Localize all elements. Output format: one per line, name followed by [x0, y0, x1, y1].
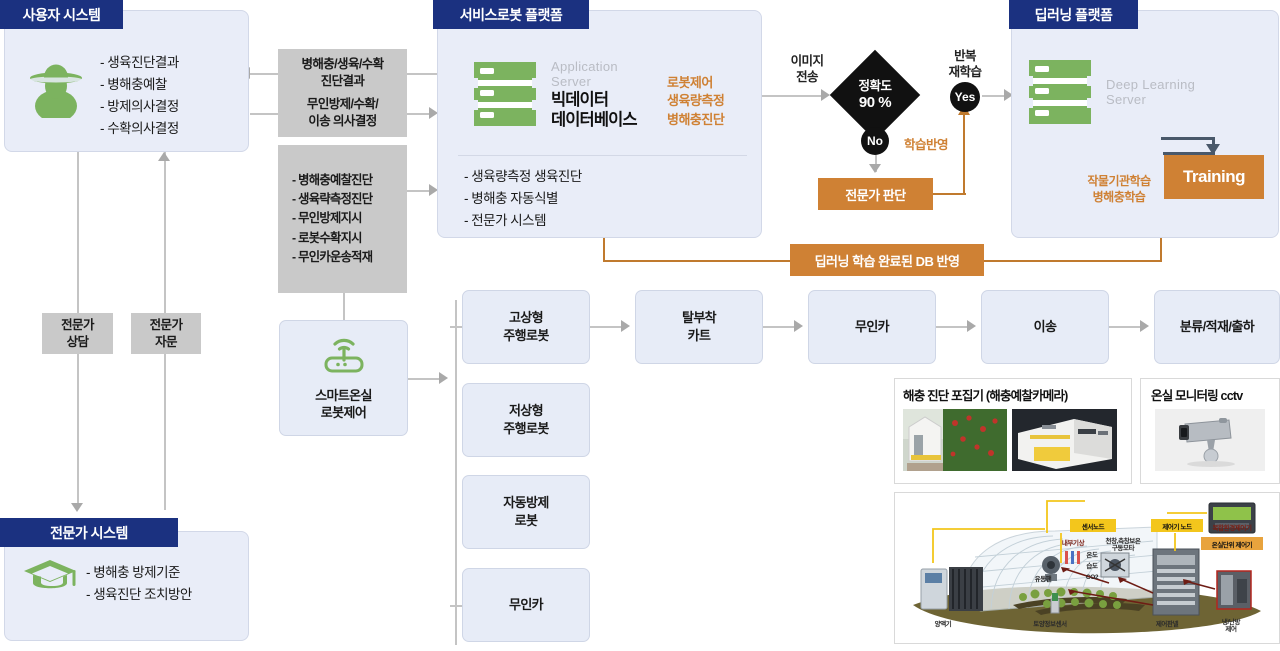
- robot-node-1[interactable]: 저상형 주행로봇: [462, 383, 590, 457]
- robot-node-0[interactable]: 고상형 주행로봇: [462, 290, 590, 364]
- expert-system-bullets: - 병해충 방제기준 - 생육진단 조치방안: [86, 562, 256, 606]
- greenhouse-label-soil-sensor: 토양정보센서: [1019, 621, 1081, 628]
- graduation-cap-icon: [22, 558, 78, 600]
- service-robot-features: 로봇제어 생육량측정 병해충진단: [667, 74, 777, 129]
- greenhouse-label-ceiling-motor: 천창,측창보온 구동모타: [1095, 538, 1151, 553]
- robot-node-3[interactable]: 무인카: [462, 568, 590, 642]
- graybox-expert-consult: 전문가 상담: [42, 313, 113, 354]
- user-system-bullets: - 생육진단결과 - 병해충예찰 - 방제의사결정 - 수확의사결정: [100, 52, 250, 139]
- greenhouse-label-control-panel: 제어판넬: [1145, 621, 1189, 628]
- greenhouse-tag-sensor-node: 센서노드: [1070, 519, 1116, 532]
- arrow-no-to-expert: [869, 164, 881, 173]
- greenhouse-label-internal-weather: 내부기상: [1052, 540, 1094, 547]
- connector-db-bar-left: [603, 260, 793, 262]
- panel-title-user-system: 사용자 시스템: [0, 0, 123, 29]
- greenhouse-tag-unit-controller: 온실단위 제어기: [1201, 537, 1263, 550]
- application-server-label: Application Server: [551, 60, 671, 90]
- connector-spine-to-robot4: [450, 605, 462, 607]
- connector-car-to-transfer: [936, 326, 968, 328]
- graybox-expert-advice: 전문가 자문: [131, 313, 201, 354]
- yes-badge: Yes: [950, 82, 980, 112]
- dl-server-right-h: [1161, 137, 1215, 140]
- connector-db-bar-right: [982, 260, 1162, 262]
- connector-user-to-decision: [250, 113, 280, 115]
- arrow-to-expert-system: [71, 503, 83, 512]
- connector-expert-system-up: [164, 350, 166, 510]
- security-camera-photo: [1155, 409, 1265, 471]
- accuracy-diamond: 정확도 90 %: [843, 63, 907, 127]
- smart-greenhouse-robot-control[interactable]: 스마트온실 로봇제어: [279, 320, 408, 436]
- arrow-platform-to-diamond: [821, 89, 830, 101]
- photo-card-cctv-caption: 온실 모니터링 cctv: [1151, 385, 1279, 404]
- image-transfer-label: 이미지 전송: [778, 53, 836, 86]
- greenhouse-label-nutrient: 양액기: [925, 621, 961, 628]
- connector-expert-advice-up: [164, 152, 166, 317]
- connector-instructions-to-platform: [406, 190, 430, 192]
- wifi-router-icon: [320, 334, 368, 379]
- server-rack-icon: [474, 62, 536, 126]
- greenhouse-label-temp: 온도: [1081, 552, 1103, 559]
- greenhouse-label-co2: CO2: [1081, 574, 1103, 581]
- panel-title-deep-learning: 딥러닝 플랫폼: [1009, 0, 1138, 29]
- photo-card-cctv: 온실 모니터링 cctv: [1140, 378, 1280, 484]
- learning-types-label: 작물기관학습 병해충학습: [1074, 173, 1164, 206]
- graybox-instructions-text: - 병해충예찰진단 - 생육략측정진단 - 무인방제지시 - 로봇수확지시 - …: [292, 171, 372, 266]
- robot-node-2[interactable]: 자동방제 로봇: [462, 475, 590, 549]
- learning-reflect-label: 학습반영: [904, 134, 948, 153]
- deep-learning-server-label: Deep Learning Server: [1106, 78, 1236, 108]
- greenhouse-illustration: 센서노드 제어기 노드 온실단위 제어기 복합환경제어기 내부기상 온도 습도 …: [894, 492, 1280, 644]
- arrow-robot1-to-cart: [621, 320, 630, 332]
- repeat-relearn-label: 반복 재학습: [936, 48, 994, 81]
- connector-instructions-to-control: [343, 292, 345, 320]
- connector-expert-to-yes-v: [963, 113, 965, 195]
- graybox-decision: 무인방제/수확/ 이송 의사결정: [278, 89, 407, 137]
- farmer-avatar-icon: [28, 58, 84, 118]
- greenhouse-tomato-trap-photo: [903, 409, 1007, 471]
- connector-robot1-to-cart: [590, 326, 622, 328]
- no-badge: No: [861, 127, 889, 155]
- bigdata-db-label: 빅데이터 데이터베이스: [551, 90, 681, 130]
- greenhouse-tag-controller-node: 제어기 노드: [1151, 519, 1203, 532]
- connector-expert-to-yes-h: [933, 193, 966, 195]
- connector-decision-to-platform: [406, 113, 430, 115]
- service-robot-bullets: - 생육량측정 생육진단 - 병해충 자동식별 - 전문가 시스템: [464, 166, 744, 232]
- accuracy-value: 90 %: [859, 94, 891, 111]
- connector-diag-to-user: [250, 73, 280, 75]
- arrow-into-training: [1206, 144, 1220, 155]
- connector-control-to-robots: [408, 378, 440, 380]
- training-box: Training: [1164, 155, 1264, 199]
- pipeline-node-2[interactable]: 이송: [981, 290, 1109, 364]
- pipeline-node-0[interactable]: 탈부착 카트: [635, 290, 763, 364]
- connector-cart-to-car: [763, 326, 795, 328]
- arrow-control-to-robots: [439, 372, 448, 384]
- arrow-car-to-transfer: [967, 320, 976, 332]
- dl-server-rack-icon: [1029, 60, 1091, 124]
- connector-expert-consult-down: [77, 350, 79, 505]
- connector-spine-to-robot1: [450, 326, 462, 328]
- panel-title-expert-system: 전문가 시스템: [0, 518, 178, 547]
- robot-control-label: 스마트온실 로봇제어: [315, 387, 372, 422]
- connector-robot-column-spine: [455, 300, 457, 645]
- arrow-cart-to-car: [794, 320, 803, 332]
- connector-diag-from-platform: [406, 73, 438, 75]
- expert-judgement-box: 전문가 판단: [818, 178, 933, 210]
- arrow-advice-to-user: [158, 152, 170, 161]
- graybox-instructions: - 병해충예찰진단 - 생육략측정진단 - 무인방제지시 - 로봇수확지시 - …: [278, 145, 407, 293]
- arrow-transfer-to-sort: [1140, 320, 1149, 332]
- db-reflect-bar: 딥러닝 학습 완료된 DB 반영: [790, 244, 984, 276]
- pipeline-node-1[interactable]: 무인카: [808, 290, 936, 364]
- accuracy-label: 정확도: [858, 79, 891, 93]
- connector-user-down-left: [77, 152, 79, 317]
- connector-transfer-to-sort: [1109, 326, 1141, 328]
- greenhouse-label-humidity: 습도: [1081, 563, 1103, 570]
- pipeline-node-3[interactable]: 분류/적재/출하: [1154, 290, 1280, 364]
- greenhouse-label-env-controller-device: 복합환경제어기: [1205, 525, 1259, 532]
- photo-card-trap: 해충 진단 포집기 (해충예찰카메라): [894, 378, 1132, 484]
- photo-card-trap-caption: 해충 진단 포집기 (해충예찰카메라): [903, 385, 1131, 404]
- dl-top-vertical: [1163, 152, 1166, 153]
- panel-title-service-robot: 서비스로봇 플랫폼: [433, 0, 589, 29]
- panel-divider: [458, 155, 747, 156]
- yellow-sticky-trap-photo: [1012, 409, 1117, 471]
- greenhouse-label-fan: 유동팬: [1027, 576, 1059, 583]
- greenhouse-label-hvac: 냉/난방 제어: [1207, 619, 1255, 634]
